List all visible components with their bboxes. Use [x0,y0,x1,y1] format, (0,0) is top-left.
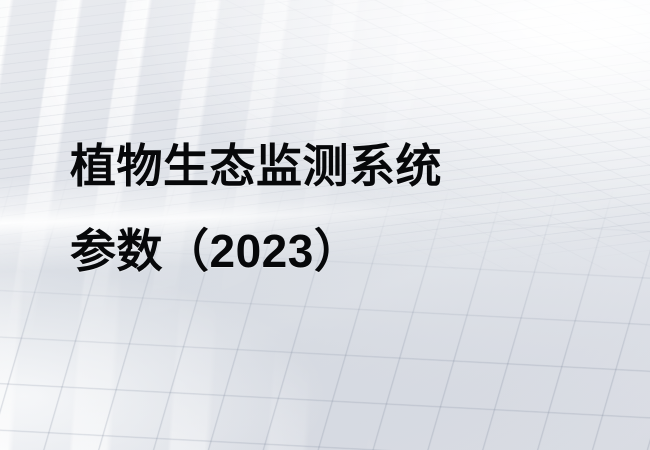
title-slide: 植物生态监测系统 参数（2023） [0,0,650,450]
slide-title-line-1: 植物生态监测系统 [70,124,590,209]
slide-title-line-2: 参数（2023） [70,209,590,294]
slide-title: 植物生态监测系统 参数（2023） [70,124,590,294]
